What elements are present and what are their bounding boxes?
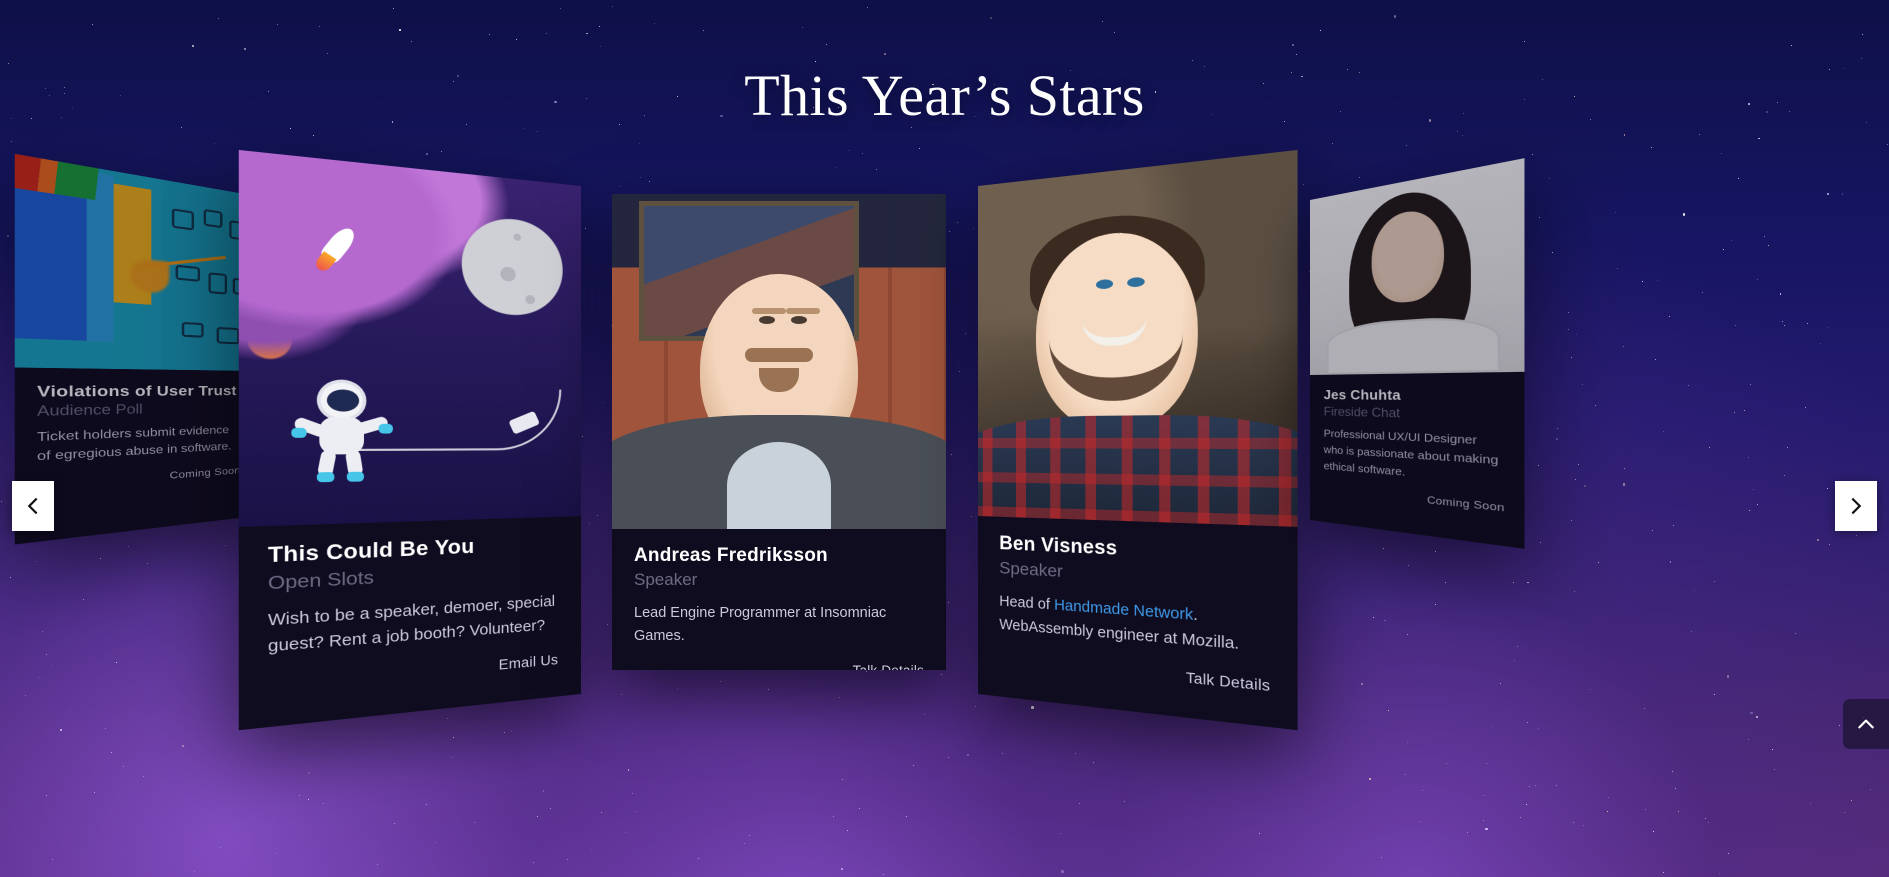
chevron-up-icon bbox=[1856, 714, 1876, 734]
card-description: Wish to be a speaker, demoer, special gu… bbox=[268, 590, 558, 661]
moon-crater-icon bbox=[501, 266, 516, 281]
card-media-space-illustration bbox=[239, 150, 581, 527]
portrait-photo-jes bbox=[1310, 158, 1524, 375]
card-body: This Could Be You Open Slots Wish to be … bbox=[239, 516, 581, 730]
astronaut-artwork bbox=[239, 150, 581, 527]
card-title: Jes Chuhta bbox=[1324, 387, 1505, 405]
scroll-to-top-button[interactable] bbox=[1843, 699, 1889, 749]
card-subtitle: Speaker bbox=[634, 570, 924, 590]
card-body: Ben Visness Speaker Head of Handmade Net… bbox=[978, 516, 1298, 730]
speakers-carousel-section: This Year’s Stars bbox=[0, 0, 1889, 877]
carousel[interactable]: Violations of User Trust Audience Poll T… bbox=[0, 0, 1889, 877]
carousel-next-button[interactable] bbox=[1835, 481, 1877, 531]
card-subtitle: Fireside Chat bbox=[1324, 404, 1505, 424]
card-action-link[interactable]: Talk Details bbox=[634, 663, 924, 670]
chevron-right-icon bbox=[1846, 494, 1866, 518]
speaker-card-andreas-fredriksson[interactable]: Andreas Fredriksson Speaker Lead Engine … bbox=[612, 194, 946, 670]
carousel-prev-button[interactable] bbox=[12, 481, 54, 531]
card-action-link[interactable]: Coming Soon bbox=[37, 465, 241, 492]
card-title: Violations of User Trust bbox=[37, 382, 241, 400]
card-body: Andreas Fredriksson Speaker Lead Engine … bbox=[612, 529, 946, 670]
card-description: Ticket holders submit evidence of egregi… bbox=[37, 422, 241, 466]
description-prefix: Head of bbox=[999, 593, 1054, 613]
astronaut-icon bbox=[296, 379, 383, 466]
portrait-photo-ben bbox=[978, 150, 1298, 527]
card-media-windows-collage bbox=[15, 154, 256, 371]
speaker-card-this-could-be-you[interactable]: This Could Be You Open Slots Wish to be … bbox=[239, 150, 581, 730]
rocket-icon bbox=[319, 224, 359, 264]
card-subtitle: Audience Poll bbox=[37, 400, 241, 419]
handmade-network-link[interactable]: Handmade Network bbox=[1054, 597, 1193, 624]
speaker-card-ben-visness[interactable]: Ben Visness Speaker Head of Handmade Net… bbox=[978, 150, 1298, 730]
card-description: Lead Engine Programmer at Insomniac Game… bbox=[634, 602, 924, 649]
moon-crater-icon bbox=[513, 233, 521, 241]
card-action-link[interactable]: Coming Soon bbox=[1324, 485, 1505, 516]
portrait-photo-andreas bbox=[612, 194, 946, 529]
card-body: Jes Chuhta Fireside Chat Professional UX… bbox=[1310, 372, 1524, 549]
card-title: Andreas Fredriksson bbox=[634, 545, 924, 567]
chevron-left-icon bbox=[23, 494, 43, 518]
card-media-photo bbox=[612, 194, 946, 529]
card-description: Professional UX/UI Designer who is passi… bbox=[1324, 427, 1505, 491]
card-action-link[interactable]: Talk Details bbox=[999, 652, 1270, 694]
card-media-photo bbox=[978, 150, 1298, 527]
moon-crater-icon bbox=[526, 295, 536, 305]
card-media-photo bbox=[1310, 158, 1524, 375]
speaker-card-jes-chuhta[interactable]: Jes Chuhta Fireside Chat Professional UX… bbox=[1310, 158, 1524, 549]
windows-logo-artwork bbox=[15, 154, 256, 371]
card-action-link[interactable]: Email Us bbox=[268, 652, 558, 694]
card-description: Head of Handmade Network. WebAssembly en… bbox=[999, 590, 1270, 661]
